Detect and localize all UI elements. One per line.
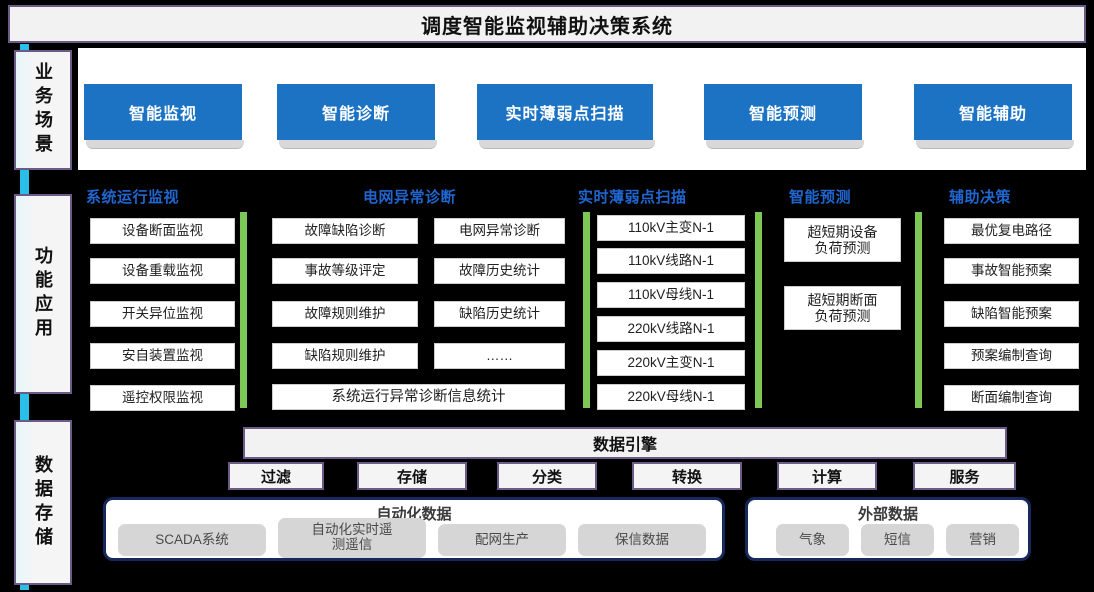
function-item[interactable]: 220kV线路N-1 <box>597 316 745 342</box>
function-item[interactable]: 故障缺陷诊断 <box>272 218 418 244</box>
function-item[interactable]: 电网异常诊断 <box>434 218 565 244</box>
business-card-wrap: 智能辅助 <box>914 84 1076 150</box>
app-title-bar: 调度智能监视辅助决策系统 <box>8 5 1086 43</box>
business-card-base <box>279 140 437 149</box>
function-item[interactable]: 超短期设备 负荷预测 <box>784 218 901 262</box>
business-card-base <box>706 140 864 149</box>
data-engine-chip-conversion[interactable]: 转换 <box>632 462 742 490</box>
function-item[interactable]: 110kV主变N-1 <box>597 215 745 241</box>
business-card-intelligent-assist[interactable]: 智能辅助 <box>914 84 1072 140</box>
data-storage-box-title: 外部数据 <box>748 503 1028 524</box>
section-divider-green <box>240 212 247 408</box>
page-title: 调度智能监视辅助决策系统 <box>421 10 673 39</box>
data-engine-bar: 数据引擎 <box>243 427 1007 459</box>
data-engine-chip-computation[interactable]: 计算 <box>777 462 877 490</box>
business-card-base <box>86 140 244 149</box>
function-section-title-grid-anomaly-diagnosis: 电网异常诊断 <box>363 186 456 207</box>
business-card-realtime-weakpoint-scan[interactable]: 实时薄弱点扫描 <box>477 84 653 140</box>
function-item[interactable]: 事故等级评定 <box>272 258 418 284</box>
function-item[interactable]: 缺陷智能预案 <box>944 301 1079 327</box>
function-section-title-assist-decision: 辅助决策 <box>949 186 1011 207</box>
data-engine-label: 数据引擎 <box>587 431 663 455</box>
business-card-label: 智能监视 <box>129 100 197 124</box>
function-item-ellipsis[interactable]: …… <box>434 343 565 369</box>
sidebar-connector-1 <box>20 168 29 196</box>
function-item[interactable]: 110kV母线N-1 <box>597 282 745 308</box>
function-item[interactable]: 故障历史统计 <box>434 258 565 284</box>
data-storage-chip-weather[interactable]: 气象 <box>776 524 849 556</box>
business-card-intelligent-prediction[interactable]: 智能预测 <box>704 84 862 140</box>
business-card-base <box>479 140 655 149</box>
function-item[interactable]: 超短期断面 负荷预测 <box>784 286 901 330</box>
data-storage-chip-protection-info[interactable]: 保信数据 <box>578 524 706 556</box>
function-item[interactable]: 设备重载监视 <box>90 258 235 284</box>
function-item[interactable]: 安自装置监视 <box>90 343 235 369</box>
data-storage-chip-scada[interactable]: SCADA系统 <box>118 524 266 556</box>
function-section-title-weakpoint-scan: 实时薄弱点扫描 <box>578 186 687 207</box>
function-item[interactable]: 缺陷历史统计 <box>434 301 565 327</box>
data-storage-chip-automation-telemetry[interactable]: 自动化实时遥 测遥信 <box>278 518 426 558</box>
business-card-label: 智能预测 <box>749 100 817 124</box>
function-item[interactable]: 开关异位监视 <box>90 301 235 327</box>
sidebar-item-business-scenario[interactable]: 业务场景 <box>14 50 72 170</box>
business-card-wrap: 智能诊断 <box>277 84 439 150</box>
function-item-summary[interactable]: 系统运行异常诊断信息统计 <box>272 384 565 410</box>
function-item[interactable]: 220kV母线N-1 <box>597 384 745 410</box>
sidebar-item-data-storage[interactable]: 数据存储 <box>14 420 72 585</box>
function-item[interactable]: 故障规则维护 <box>272 301 418 327</box>
data-engine-chip-classification[interactable]: 分类 <box>497 462 597 490</box>
data-engine-chip-filter[interactable]: 过滤 <box>228 462 324 490</box>
sidebar-connector-2 <box>20 392 29 422</box>
data-storage-chip-sms[interactable]: 短信 <box>861 524 934 556</box>
data-storage-chip-marketing[interactable]: 营销 <box>946 524 1019 556</box>
sidebar-item-label: 功能应用 <box>34 246 52 342</box>
business-card-base <box>916 140 1074 149</box>
function-item[interactable]: 遥控权限监视 <box>90 385 235 411</box>
business-card-intelligent-diagnosis[interactable]: 智能诊断 <box>277 84 435 140</box>
business-card-wrap: 智能预测 <box>704 84 866 150</box>
function-item[interactable]: 110kV线路N-1 <box>597 248 745 274</box>
function-section-title-system-monitoring: 系统运行监视 <box>86 186 179 207</box>
function-item[interactable]: 最优复电路径 <box>944 218 1079 244</box>
function-item[interactable]: 断面编制查询 <box>944 385 1079 411</box>
data-engine-chip-storage[interactable]: 存储 <box>357 462 467 490</box>
business-card-label: 智能诊断 <box>322 100 390 124</box>
business-card-wrap: 智能监视 <box>84 84 246 150</box>
function-item[interactable]: 缺陷规则维护 <box>272 343 418 369</box>
section-divider-green <box>583 212 590 408</box>
function-item[interactable]: 220kV主变N-1 <box>597 350 745 376</box>
sidebar-item-function-application[interactable]: 功能应用 <box>14 194 72 394</box>
business-card-wrap: 实时薄弱点扫描 <box>477 84 657 150</box>
function-section-title-intelligent-prediction: 智能预测 <box>789 186 851 207</box>
data-storage-box-external: 外部数据 气象 短信 营销 <box>745 497 1031 561</box>
business-card-label: 智能辅助 <box>959 100 1027 124</box>
data-storage-box-automation: 自动化数据 SCADA系统 自动化实时遥 测遥信 配网生产 保信数据 <box>103 497 725 561</box>
function-item[interactable]: 事故智能预案 <box>944 258 1079 284</box>
function-item[interactable]: 设备断面监视 <box>90 218 235 244</box>
sidebar-item-label: 数据存储 <box>34 455 52 551</box>
business-card-intelligent-monitoring[interactable]: 智能监视 <box>84 84 242 140</box>
function-item[interactable]: 预案编制查询 <box>944 343 1079 369</box>
section-divider-green <box>755 212 762 408</box>
business-card-label: 实时薄弱点扫描 <box>505 100 624 124</box>
section-divider-green <box>915 212 922 408</box>
data-storage-chip-distribution-production[interactable]: 配网生产 <box>438 524 566 556</box>
data-engine-chip-service[interactable]: 服务 <box>913 462 1016 490</box>
sidebar-item-label: 业务场景 <box>34 62 52 158</box>
